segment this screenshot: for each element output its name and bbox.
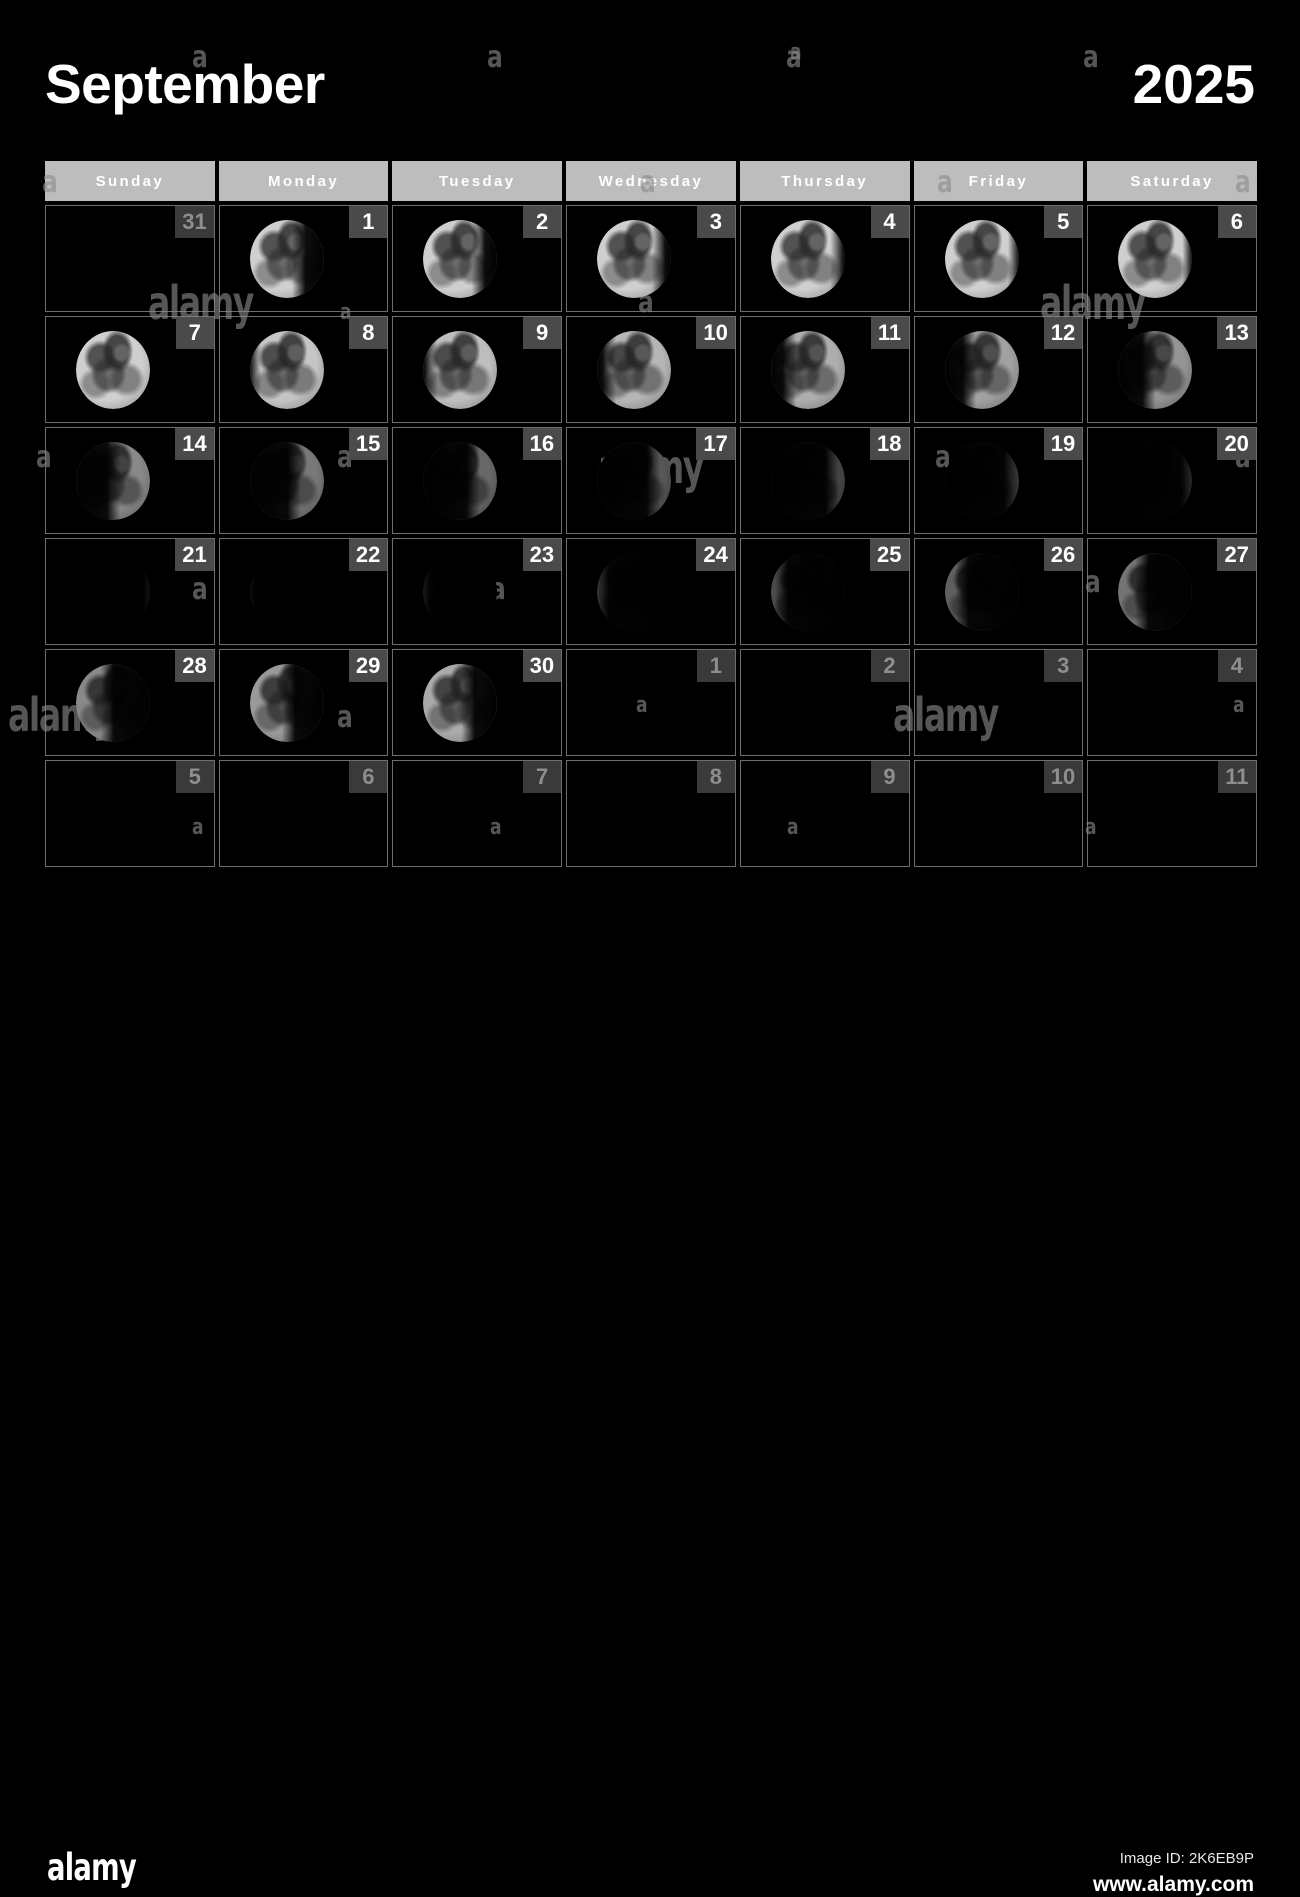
day-number-badge: 18 [870,428,908,460]
calendar-day-cell[interactable]: 3 [914,649,1084,756]
calendar-day-cell[interactable]: 1 [566,649,736,756]
calendar-day-cell[interactable]: 8 [219,316,389,423]
page-title-month: September [45,48,325,120]
calendar-day-cell[interactable]: 2 [740,649,910,756]
calendar-day-cell[interactable]: 8 [566,760,736,867]
weekday-header-label: Saturday [1130,173,1213,190]
day-number-badge: 2 [871,650,909,682]
calendar-day-cell[interactable]: 11 [740,316,910,423]
day-number-badge: 31 [175,206,213,238]
day-number-badge: 12 [1044,317,1082,349]
day-number-badge: 5 [1044,206,1082,238]
calendar-day-cell[interactable]: 21 [45,538,215,645]
calendar-weeks: 3112345678910111213141516171819202122232… [45,205,1257,867]
calendar-day-cell[interactable]: 24 [566,538,736,645]
calendar-day-cell[interactable]: 19 [914,427,1084,534]
website-label: www.alamy.com [1093,1873,1254,1897]
weekday-header-label: Friday [969,173,1028,190]
day-number-badge: 4 [871,206,909,238]
footer-bar: alamy Image ID: 2K6EB9P www.alamy.com [0,918,1300,1000]
calendar-day-cell[interactable]: 2 [392,205,562,312]
day-number-badge: 3 [697,206,735,238]
calendar-day-cell[interactable]: 3 [566,205,736,312]
calendar-day-cell[interactable]: 25 [740,538,910,645]
calendar-title-bar: September 2025 [45,48,1255,128]
day-number-badge: 5 [176,761,214,793]
calendar-day-cell[interactable]: 16 [392,427,562,534]
day-number-badge: 8 [697,761,735,793]
day-number-badge: 6 [1218,206,1256,238]
weekday-header-label: Sunday [96,173,165,190]
calendar-day-cell[interactable]: 10 [566,316,736,423]
day-number-badge: 6 [349,761,387,793]
calendar-day-cell[interactable]: 7 [45,316,215,423]
calendar-day-cell[interactable]: 27 [1087,538,1257,645]
calendar-week-row: 78910111213 [45,316,1257,423]
weekday-header-thursday: Thursday [740,161,910,201]
calendar-week-row: 14151617181920 [45,427,1257,534]
calendar-day-cell[interactable]: 26 [914,538,1084,645]
day-number-badge: 10 [696,317,734,349]
day-number-badge: 26 [1044,539,1082,571]
day-number-badge: 28 [175,650,213,682]
alamy-logo: alamy [47,1846,136,1889]
calendar-day-cell[interactable]: 13 [1087,316,1257,423]
day-number-badge: 10 [1044,761,1082,793]
image-id-label: Image ID: 2K6EB9P [1120,1850,1254,1867]
calendar-day-cell[interactable]: 23 [392,538,562,645]
calendar-day-cell[interactable]: 9 [740,760,910,867]
calendar-day-cell[interactable]: 12 [914,316,1084,423]
day-number-badge: 8 [349,317,387,349]
day-number-badge: 24 [696,539,734,571]
day-number-badge: 9 [871,761,909,793]
page-title-year: 2025 [1133,48,1255,120]
calendar-week-row: 2829301234 [45,649,1257,756]
weekday-header-saturday: Saturday [1087,161,1257,201]
weekday-header-wednesday: Wednesday [566,161,736,201]
calendar-day-cell[interactable]: 18 [740,427,910,534]
day-number-badge: 7 [176,317,214,349]
day-number-badge: 27 [1217,539,1255,571]
calendar-day-cell[interactable]: 30 [392,649,562,756]
calendar-day-cell[interactable]: 28 [45,649,215,756]
calendar-day-cell[interactable]: 22 [219,538,389,645]
day-number-badge: 3 [1044,650,1082,682]
calendar-day-cell[interactable]: 6 [219,760,389,867]
day-number-badge: 15 [349,428,387,460]
calendar-day-cell[interactable]: 7 [392,760,562,867]
calendar-day-cell[interactable]: 31 [45,205,215,312]
calendar-week-row: 31123456 [45,205,1257,312]
weekday-header-label: Tuesday [439,173,516,190]
weekday-header-tuesday: Tuesday [392,161,562,201]
day-number-badge: 1 [349,206,387,238]
day-number-badge: 11 [871,317,909,349]
calendar-day-cell[interactable]: 5 [45,760,215,867]
weekday-header-friday: Friday [914,161,1084,201]
weekday-header-label: Wednesday [599,173,704,190]
day-number-badge: 13 [1217,317,1255,349]
day-number-badge: 21 [175,539,213,571]
calendar-week-row: 567891011 [45,760,1257,867]
day-number-badge: 20 [1217,428,1255,460]
day-number-badge: 14 [175,428,213,460]
day-number-badge: 2 [523,206,561,238]
calendar-day-cell[interactable]: 5 [914,205,1084,312]
weekday-header-row: SundayMondayTuesdayWednesdayThursdayFrid… [45,161,1257,201]
calendar-day-cell[interactable]: 4 [740,205,910,312]
day-number-badge: 25 [870,539,908,571]
day-number-badge: 19 [1044,428,1082,460]
day-number-badge: 30 [523,650,561,682]
weekday-header-label: Monday [268,173,339,190]
day-number-badge: 11 [1218,761,1256,793]
day-number-badge: 22 [349,539,387,571]
day-number-badge: 23 [523,539,561,571]
calendar-day-cell[interactable]: 11 [1087,760,1257,867]
day-number-badge: 16 [523,428,561,460]
moon-phase-calendar: September 2025 SundayMondayTuesdayWednes… [0,0,1300,1000]
weekday-header-sunday: Sunday [45,161,215,201]
day-number-badge: 29 [349,650,387,682]
day-number-badge: 4 [1218,650,1256,682]
weekday-header-label: Thursday [781,173,868,190]
calendar-day-cell[interactable]: 4 [1087,649,1257,756]
calendar-day-cell[interactable]: 15 [219,427,389,534]
calendar-day-cell[interactable]: 1 [219,205,389,312]
calendar-day-cell[interactable]: 20 [1087,427,1257,534]
day-number-badge: 9 [523,317,561,349]
calendar-day-cell[interactable]: 17 [566,427,736,534]
day-number-badge: 7 [523,761,561,793]
day-number-badge: 1 [697,650,735,682]
weekday-header-monday: Monday [219,161,389,201]
day-number-badge: 17 [696,428,734,460]
calendar-day-cell[interactable]: 29 [219,649,389,756]
calendar-day-cell[interactable]: 9 [392,316,562,423]
calendar-day-cell[interactable]: 14 [45,427,215,534]
calendar-grid: SundayMondayTuesdayWednesdayThursdayFrid… [45,161,1257,871]
calendar-week-row: 21222324252627 [45,538,1257,645]
calendar-day-cell[interactable]: 6 [1087,205,1257,312]
calendar-day-cell[interactable]: 10 [914,760,1084,867]
